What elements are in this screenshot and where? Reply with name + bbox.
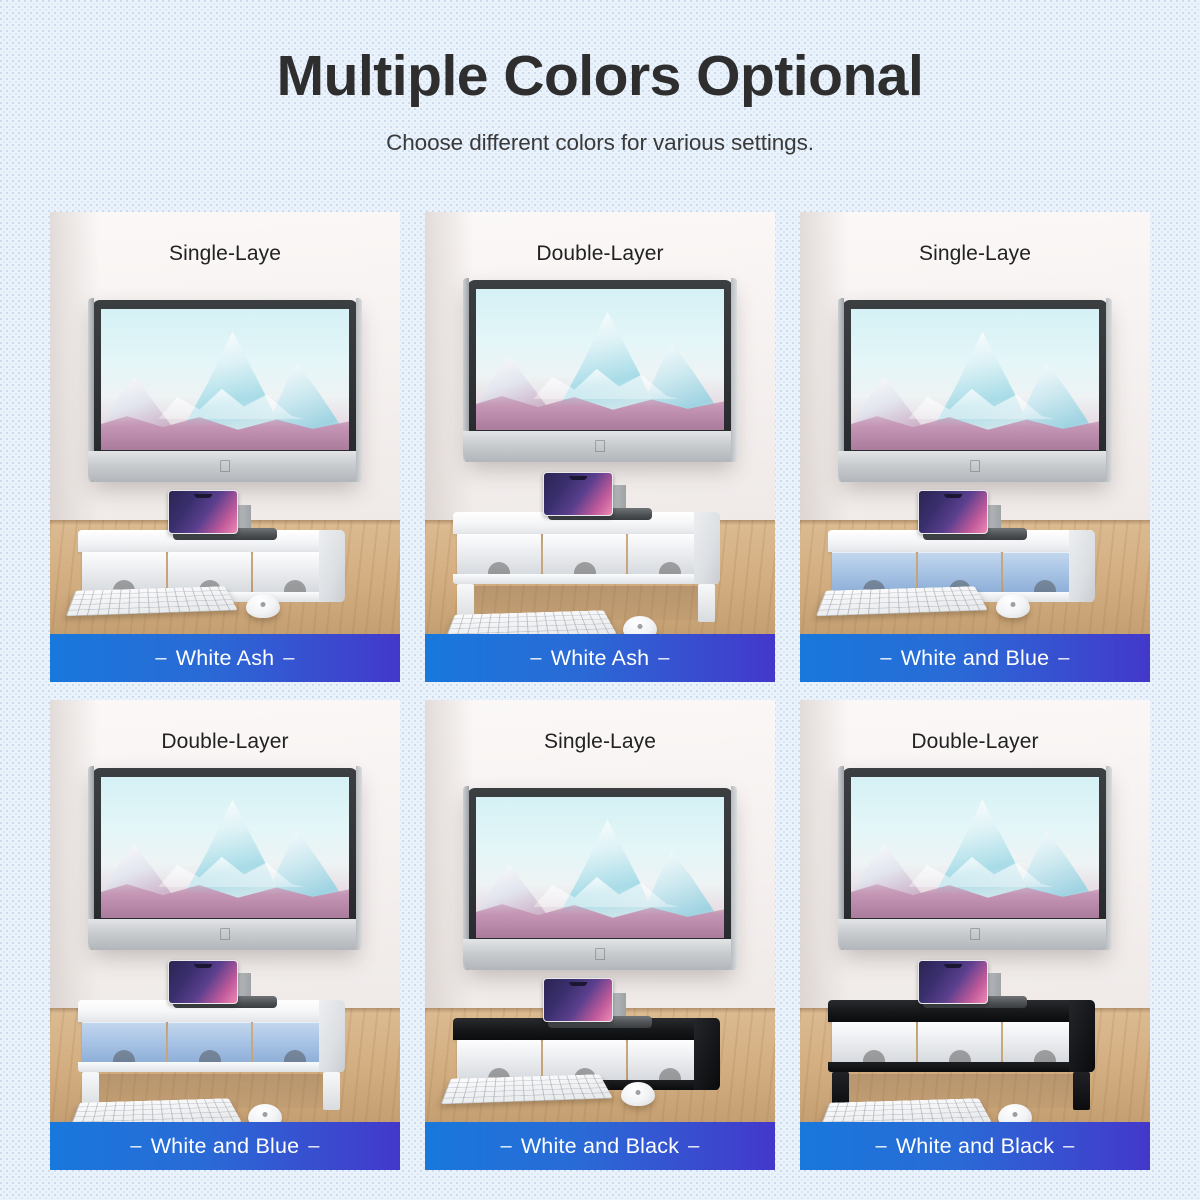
- apple-logo-icon: : [219, 926, 232, 943]
- layer-type-label: Double-Layer: [800, 730, 1150, 754]
- layer-type-label: Single-Laye: [425, 730, 775, 754]
- product-photo: Double-Layer : [425, 212, 775, 634]
- product-variant-card[interactable]: Single-Laye : [50, 212, 400, 682]
- monitor-bezel: : [842, 768, 1108, 948]
- riser-drawer[interactable]: [457, 1040, 541, 1080]
- layer-type-label: Double-Layer: [50, 730, 400, 754]
- imac-monitor: : [467, 788, 733, 968]
- layer-type-label: Double-Layer: [425, 242, 775, 266]
- caption-dash-left: –: [146, 647, 175, 670]
- product-variant-card[interactable]: Single-Laye : [425, 700, 775, 1170]
- color-caption-bar: – White and Black –: [425, 1122, 775, 1170]
- product-variant-card[interactable]: Single-Laye : [800, 212, 1150, 682]
- monitor-chin: : [88, 919, 362, 950]
- monitor-chin: : [463, 939, 737, 970]
- color-name-label: White and Blue: [901, 646, 1050, 671]
- monitor-screen: [851, 777, 1099, 918]
- color-name-label: White Ash: [551, 646, 650, 671]
- monitor-bezel: : [467, 788, 733, 968]
- imac-monitor: : [842, 768, 1108, 948]
- product-photo: Double-Layer : [800, 700, 1150, 1122]
- riser-drawer[interactable]: [168, 1022, 252, 1062]
- wireless-mouse: [621, 1082, 655, 1106]
- layer-type-label: Single-Laye: [50, 242, 400, 266]
- riser-drawer[interactable]: [457, 534, 541, 574]
- riser-drawer[interactable]: [543, 534, 627, 574]
- apple-logo-icon: : [969, 458, 982, 475]
- caption-dash-left: –: [866, 1135, 895, 1158]
- wireless-mouse: [996, 594, 1030, 618]
- monitor-chin: : [463, 431, 737, 462]
- smartphone: [168, 490, 238, 534]
- riser-side-panel: [319, 1000, 345, 1072]
- color-caption-bar: – White and Blue –: [800, 634, 1150, 682]
- caption-dash-left: –: [871, 647, 900, 670]
- wireless-mouse: [246, 594, 280, 618]
- color-name-label: White and Blue: [151, 1134, 300, 1159]
- color-caption-bar: – White Ash –: [425, 634, 775, 682]
- caption-dash-right: –: [299, 1135, 328, 1158]
- caption-dash-right: –: [1049, 647, 1078, 670]
- monitor-bezel: : [92, 300, 358, 480]
- page-subtitle: Choose different colors for various sett…: [0, 130, 1200, 156]
- apple-logo-icon: : [969, 926, 982, 943]
- riser-drawer-row: [78, 1022, 344, 1062]
- caption-dash-right: –: [679, 1135, 708, 1158]
- product-variant-card[interactable]: Double-Layer : [800, 700, 1150, 1170]
- monitor-bezel: : [842, 300, 1108, 480]
- wireless-keyboard: [820, 1098, 992, 1122]
- riser-drawer[interactable]: [918, 1022, 1002, 1062]
- riser-drawer[interactable]: [832, 552, 916, 592]
- monitor-chin: : [88, 451, 362, 482]
- smartphone: [543, 978, 613, 1022]
- riser-base-bar: [828, 1062, 1094, 1072]
- caption-dash-right: –: [649, 647, 678, 670]
- riser-drawer[interactable]: [82, 1022, 166, 1062]
- riser-side-panel: [319, 530, 345, 602]
- imac-monitor: : [92, 768, 358, 948]
- monitor-riser-stand: [828, 1000, 1094, 1112]
- apple-logo-icon: : [594, 946, 607, 963]
- product-photo: Single-Laye : [50, 212, 400, 634]
- monitor-bezel: : [467, 280, 733, 460]
- monitor-screen: [476, 797, 724, 938]
- monitor-chin: : [838, 919, 1112, 950]
- product-variant-card[interactable]: Double-Layer : [50, 700, 400, 1170]
- color-name-label: White and Black: [896, 1134, 1054, 1159]
- imac-monitor: : [92, 300, 358, 480]
- monitor-bezel: : [92, 768, 358, 948]
- product-photo: Single-Laye : [800, 212, 1150, 634]
- riser-drawer[interactable]: [832, 1022, 916, 1062]
- page-title: Multiple Colors Optional: [0, 46, 1200, 108]
- caption-dash-left: –: [521, 647, 550, 670]
- smartphone: [918, 960, 988, 1004]
- caption-dash-left: –: [491, 1135, 520, 1158]
- apple-logo-icon: : [594, 438, 607, 455]
- product-photo: Double-Layer : [50, 700, 400, 1122]
- riser-drawer[interactable]: [82, 552, 166, 592]
- imac-monitor: : [467, 280, 733, 460]
- caption-dash-left: –: [121, 1135, 150, 1158]
- color-caption-bar: – White Ash –: [50, 634, 400, 682]
- riser-base-bar: [78, 1062, 344, 1072]
- imac-monitor: : [842, 300, 1108, 480]
- monitor-chin: : [838, 451, 1112, 482]
- riser-side-panel: [1069, 1000, 1095, 1072]
- apple-logo-icon: : [219, 458, 232, 475]
- riser-drawer-row: [828, 1022, 1094, 1062]
- riser-side-panel: [694, 1018, 720, 1090]
- riser-drawer-row: [453, 534, 719, 574]
- monitor-riser-stand: [453, 512, 719, 624]
- wireless-keyboard: [445, 610, 617, 634]
- monitor-riser-stand: [78, 1000, 344, 1112]
- monitor-screen: [851, 309, 1099, 450]
- riser-side-panel: [1069, 530, 1095, 602]
- color-name-label: White and Black: [521, 1134, 679, 1159]
- product-variant-grid: Single-Laye : [50, 212, 1150, 1170]
- smartphone: [918, 490, 988, 534]
- layer-type-label: Single-Laye: [800, 242, 1150, 266]
- smartphone: [543, 472, 613, 516]
- monitor-screen: [476, 289, 724, 430]
- monitor-screen: [101, 309, 349, 450]
- color-caption-bar: – White and Blue –: [50, 1122, 400, 1170]
- product-variant-card[interactable]: Double-Layer : [425, 212, 775, 682]
- riser-side-panel: [694, 512, 720, 584]
- color-name-label: White Ash: [176, 646, 275, 671]
- riser-base-bar: [453, 574, 719, 584]
- color-caption-bar: – White and Black –: [800, 1122, 1150, 1170]
- wireless-keyboard: [70, 1098, 242, 1122]
- caption-dash-right: –: [274, 647, 303, 670]
- smartphone: [168, 960, 238, 1004]
- product-photo: Single-Laye : [425, 700, 775, 1122]
- monitor-screen: [101, 777, 349, 918]
- caption-dash-right: –: [1054, 1135, 1083, 1158]
- page-header: Multiple Colors Optional Choose differen…: [0, 0, 1200, 156]
